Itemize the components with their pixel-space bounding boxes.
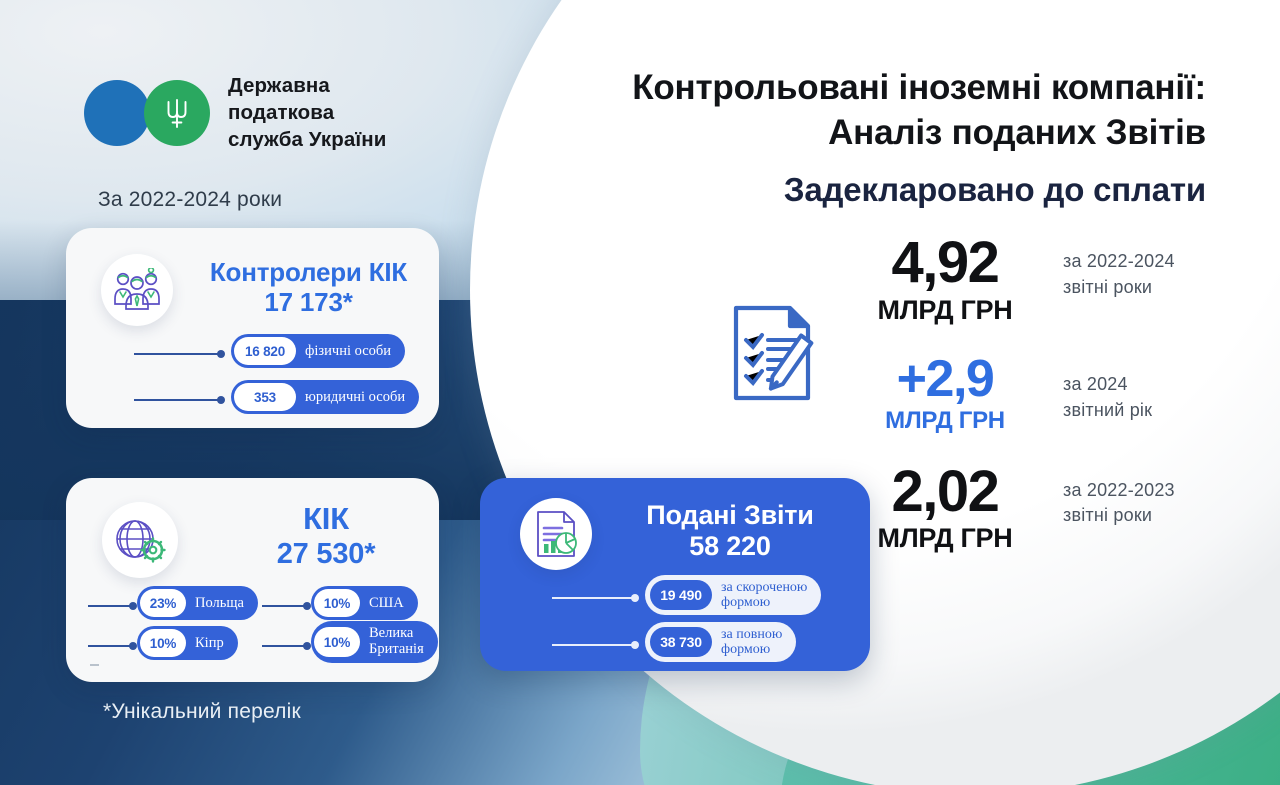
connector-line — [88, 642, 137, 650]
pill-value: 19 490 — [650, 580, 712, 610]
pill-label: Кіпр — [195, 635, 224, 651]
pill-label: за скороченою формою — [721, 580, 807, 611]
pill-poland[interactable]: 23% Польща — [137, 586, 258, 620]
globe-gear-icon-wrap — [102, 502, 178, 578]
stat-row: 2,02 МЛРД ГРН за 2022-2023 звітні роки — [855, 464, 1255, 557]
pill-value: 10% — [140, 629, 186, 657]
people-group-icon — [112, 268, 162, 312]
pill-label: юридичні особи — [305, 389, 405, 405]
subtitle: Задекларовано до сплати — [466, 170, 1206, 210]
pill-value: 10% — [314, 589, 360, 617]
stat-value: 4,92 — [855, 235, 1035, 292]
pill-short-form[interactable]: 19 490 за скороченою формою — [645, 575, 821, 615]
title-line-1: Контрольовані іноземні компанії: — [466, 66, 1206, 111]
pill-cyprus[interactable]: 10% Кіпр — [137, 626, 238, 660]
pill-legal-entities[interactable]: 353 юридичні особи — [231, 380, 419, 414]
connector-line — [134, 396, 225, 404]
document-chart-icon — [532, 508, 580, 560]
ukraine-trident-icon — [164, 96, 190, 130]
period-label: За 2022-2024 роки — [98, 188, 282, 212]
card-title-text: КІК — [226, 502, 426, 537]
stat-unit: МЛРД ГРН — [855, 405, 1035, 437]
stats-column: 4,92 МЛРД ГРН за 2022-2024 звітні роки +… — [855, 235, 1255, 583]
stat-description: за 2024 звітний рік — [1063, 354, 1152, 423]
stat-value: 2,02 — [855, 464, 1035, 521]
connector-line — [262, 602, 311, 610]
pill-full-form[interactable]: 38 730 за повною формою — [645, 622, 796, 662]
pill-label: Польща — [195, 595, 244, 611]
people-group-icon-wrap — [101, 254, 173, 326]
stat-description: за 2022-2023 звітні роки — [1063, 464, 1175, 529]
logo-green-circle-icon — [144, 80, 210, 146]
pill-individuals[interactable]: 16 820 фізичні особи — [231, 334, 405, 368]
organization-name: Державна податкова служба України — [228, 72, 386, 153]
connector-line — [88, 602, 137, 610]
card-controllers: Контролери КІК 17 173* 16 820 фізичні ос… — [66, 228, 439, 428]
card-title-value: 58 220 — [605, 530, 855, 562]
footnote: *Унікальний перелік — [103, 700, 301, 724]
pill-value: 16 820 — [234, 337, 296, 365]
connector-line — [134, 350, 225, 358]
stat-unit: МЛРД ГРН — [855, 520, 1035, 556]
card-kik-heading: КІК 27 530* — [226, 502, 426, 572]
stat-description: за 2022-2024 звітні роки — [1063, 235, 1175, 300]
infographic-canvas: Державна податкова служба України За 202… — [0, 0, 1280, 785]
globe-gear-icon — [113, 515, 167, 565]
stat-value: +2,9 — [855, 354, 1035, 405]
card-controllers-heading: Контролери КІК 17 173* — [186, 258, 431, 318]
card-title-text: Подані Звіти — [605, 500, 855, 530]
checklist-pen-icon — [726, 302, 822, 406]
stat-value-block: 4,92 МЛРД ГРН — [855, 235, 1035, 328]
card-title-value: 17 173* — [186, 287, 431, 318]
pill-label: за повною формою — [721, 627, 782, 658]
stat-row: 4,92 МЛРД ГРН за 2022-2024 звітні роки — [855, 235, 1255, 328]
stat-row: +2,9 МЛРД ГРН за 2024 звітний рік — [855, 354, 1255, 437]
document-chart-icon-wrap — [520, 498, 592, 570]
pill-united-kingdom[interactable]: 10% Велика Британія — [311, 621, 438, 663]
card-title-text: Контролери КІК — [186, 258, 431, 287]
pill-label: Велика Британія — [369, 626, 424, 657]
connector-line — [552, 594, 639, 602]
card-title-value: 27 530* — [226, 537, 426, 572]
pill-usa[interactable]: 10% США — [311, 586, 418, 620]
stat-value-block: +2,9 МЛРД ГРН — [855, 354, 1035, 437]
organization-logo: Державна податкова служба України — [84, 72, 386, 153]
gear-shape — [142, 539, 165, 562]
logo-blue-circle-icon — [84, 80, 150, 146]
pill-value: 38 730 — [650, 627, 712, 657]
pill-value: 10% — [314, 627, 360, 657]
card-kik: КІК 27 530* 23% Польща 10% США 10% Кіпр — [66, 478, 439, 682]
connector-line — [262, 642, 311, 650]
title-line-2: Аналіз поданих Звітів — [466, 111, 1206, 156]
pill-value: 23% — [140, 589, 186, 617]
decorative-dash — [90, 664, 99, 666]
card-reports-heading: Подані Звіти 58 220 — [605, 500, 855, 563]
page-title: Контрольовані іноземні компанії: Аналіз … — [466, 66, 1206, 209]
stat-unit: МЛРД ГРН — [855, 292, 1035, 328]
stat-value-block: 2,02 МЛРД ГРН — [855, 464, 1035, 557]
pill-value: 353 — [234, 383, 296, 411]
connector-line — [552, 641, 639, 649]
pill-label: фізичні особи — [305, 343, 391, 359]
card-reports: Подані Звіти 58 220 19 490 за скороченою… — [480, 478, 870, 671]
pill-label: США — [369, 595, 404, 611]
